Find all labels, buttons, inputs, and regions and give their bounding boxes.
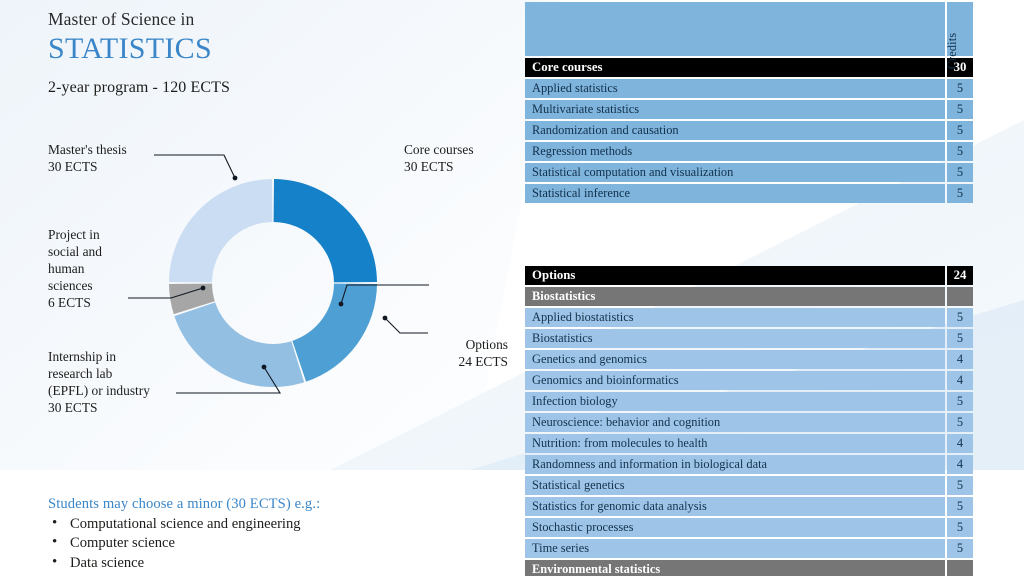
table-row: Biostatistics5 (525, 329, 973, 348)
table-subsection-row: Environmental statistics (525, 560, 973, 576)
leader-line-options (385, 318, 428, 333)
course-name: Neuroscience: behavior and cognition (525, 413, 945, 432)
subsection-label: Biostatistics (525, 287, 945, 306)
course-name: Statistics for genomic data analysis (525, 497, 945, 516)
table-row: Statistical inference5 (525, 184, 973, 203)
subsection-credits (947, 287, 973, 306)
subsection-label: Environmental statistics (525, 560, 945, 576)
course-credits: 5 (947, 476, 973, 495)
page-title: STATISTICS (48, 32, 508, 66)
course-name: Statistical genetics (525, 476, 945, 495)
course-credits: 4 (947, 371, 973, 390)
table-row: Regression methods5 (525, 142, 973, 161)
course-name: Genetics and genomics (525, 350, 945, 369)
course-name: Applied statistics (525, 79, 945, 98)
program-title-block: Master of Science in STATISTICS 2-year p… (48, 8, 508, 97)
course-credits: 5 (947, 142, 973, 161)
course-credits: 4 (947, 455, 973, 474)
program-pretitle: Master of Science in (48, 8, 508, 31)
ects-donut-chart: Core courses 30 ECTS Options 24 ECTS Mas… (30, 128, 510, 468)
credits-header-label: Credits (945, 33, 960, 70)
minor-list-item: Computational science and engineering (48, 515, 488, 534)
callout-project-social-human: Project in social and human sciences 6 E… (48, 226, 134, 311)
callout-internship: Internship in research lab (EPFL) or ind… (48, 348, 190, 416)
core-courses-table: Credits Core courses 30 Applied statisti… (525, 2, 973, 205)
course-credits: 5 (947, 79, 973, 98)
course-credits: 5 (947, 497, 973, 516)
options-section-credits: 24 (947, 266, 973, 285)
course-credits: 5 (947, 518, 973, 537)
table-row: Randomness and information in biological… (525, 455, 973, 474)
table-row: Multivariate statistics5 (525, 100, 973, 119)
minor-list-item: Computer science (48, 534, 488, 553)
options-table: Options 24 BiostatisticsApplied biostati… (525, 266, 973, 576)
course-credits: 4 (947, 350, 973, 369)
table-subsection-row: Biostatistics (525, 287, 973, 306)
core-rows-container: Applied statistics5Multivariate statisti… (525, 79, 973, 203)
table-row: Applied statistics5 (525, 79, 973, 98)
leader-dot-project (201, 286, 206, 291)
course-name: Randomization and causation (525, 121, 945, 140)
donut-slices (169, 179, 377, 387)
core-section-row: Core courses 30 (525, 58, 973, 77)
options-section-label: Options (525, 266, 945, 285)
options-rows-container: BiostatisticsApplied biostatistics5Biost… (525, 287, 973, 576)
credits-header-cell: Credits (947, 2, 973, 56)
course-credits: 5 (947, 100, 973, 119)
course-credits: 5 (947, 392, 973, 411)
donut-slice-master-s-thesis (169, 179, 272, 282)
subsection-credits (947, 560, 973, 576)
table-header-row: Credits (525, 2, 973, 56)
course-credits: 5 (947, 308, 973, 327)
course-credits: 5 (947, 413, 973, 432)
donut-slice-internship-in-research-lab-epfl-or-industry (174, 302, 304, 387)
table-row: Stochastic processes5 (525, 518, 973, 537)
course-name: Nutrition: from molecules to health (525, 434, 945, 453)
table-row: Applied biostatistics5 (525, 308, 973, 327)
core-section-label: Core courses (525, 58, 945, 77)
table-row: Infection biology5 (525, 392, 973, 411)
course-name: Statistical inference (525, 184, 945, 203)
minor-list: Computational science and engineeringCom… (48, 515, 488, 573)
table-row: Genomics and bioinformatics4 (525, 371, 973, 390)
leader-dot-options (383, 316, 388, 321)
callout-masters-thesis: Master's thesis 30 ECTS (48, 141, 198, 175)
course-name: Stochastic processes (525, 518, 945, 537)
header-spacer (525, 2, 945, 56)
table-row: Time series5 (525, 539, 973, 558)
course-name: Multivariate statistics (525, 100, 945, 119)
table-row: Nutrition: from molecules to health4 (525, 434, 973, 453)
course-credits: 5 (947, 539, 973, 558)
program-subtitle: 2-year program - 120 ECTS (48, 79, 508, 97)
donut-slice-core-courses (274, 179, 377, 282)
leader-dot-internship (262, 365, 267, 370)
course-name: Biostatistics (525, 329, 945, 348)
table-row: Statistics for genomic data analysis5 (525, 497, 973, 516)
course-credits: 4 (947, 434, 973, 453)
callout-core-courses: Core courses 30 ECTS (404, 141, 510, 175)
course-credits: 5 (947, 121, 973, 140)
table-row: Randomization and causation5 (525, 121, 973, 140)
course-name: Genomics and bioinformatics (525, 371, 945, 390)
table-row: Genetics and genomics4 (525, 350, 973, 369)
course-credits: 5 (947, 184, 973, 203)
leader-dot-core (339, 302, 344, 307)
course-credits: 5 (947, 163, 973, 182)
table-row: Statistical genetics5 (525, 476, 973, 495)
donut-slice-options (292, 284, 377, 382)
callout-options: Options 24 ECTS (410, 336, 508, 370)
minor-list-item: Data science (48, 554, 488, 573)
course-name: Time series (525, 539, 945, 558)
course-name: Infection biology (525, 392, 945, 411)
leader-dot-thesis (233, 176, 238, 181)
table-row: Statistical computation and visualizatio… (525, 163, 973, 182)
options-section-row: Options 24 (525, 266, 973, 285)
minor-heading: Students may choose a minor (30 ECTS) e.… (48, 496, 488, 513)
infographic-page: Master of Science in STATISTICS 2-year p… (0, 0, 1024, 576)
course-name: Randomness and information in biological… (525, 455, 945, 474)
minor-options-block: Students may choose a minor (30 ECTS) e.… (48, 496, 488, 573)
table-row: Neuroscience: behavior and cognition5 (525, 413, 973, 432)
course-name: Statistical computation and visualizatio… (525, 163, 945, 182)
course-credits: 5 (947, 329, 973, 348)
course-name: Applied biostatistics (525, 308, 945, 327)
course-name: Regression methods (525, 142, 945, 161)
